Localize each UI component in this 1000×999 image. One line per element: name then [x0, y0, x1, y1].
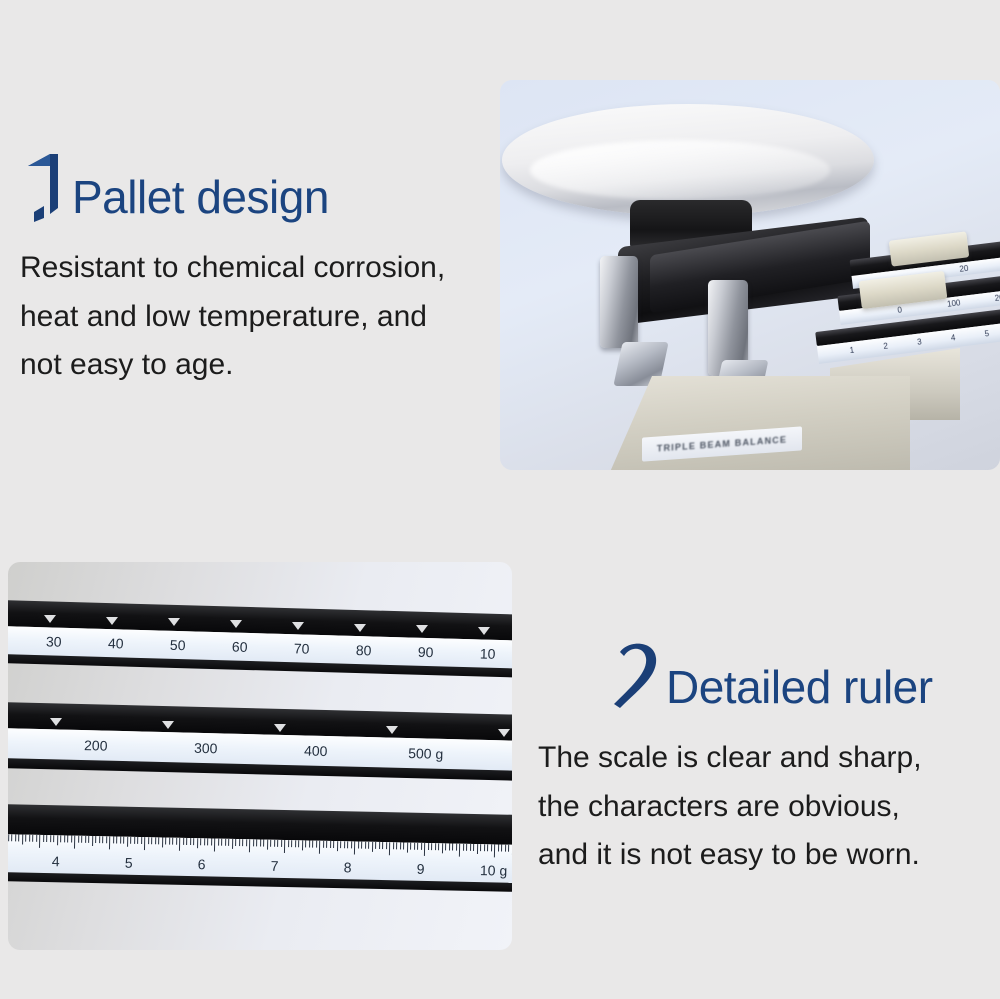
ruler-tick-label: 4 — [52, 853, 60, 869]
beam-top-label: 20 — [959, 264, 969, 274]
ruler-tick-label: 200 — [84, 737, 108, 754]
ruler-tick-label: 90 — [418, 644, 434, 660]
feature-1-body-line: Resistant to chemical corrosion, — [20, 244, 490, 293]
balance-scene: TRIPLE BEAM BALANCE 20 30 0 100 200 — [500, 80, 1000, 470]
ruler-tick-label: 60 — [232, 639, 248, 655]
ruler-notch — [168, 618, 180, 626]
ruler-notch — [44, 615, 56, 623]
beam-middle-label: 200 — [994, 292, 1000, 303]
feature-1-title: Pallet design — [72, 174, 329, 220]
ruler-tick-label: 6 — [198, 856, 206, 872]
ruler-tick-label: 80 — [356, 642, 372, 658]
ruler-notch — [274, 724, 286, 732]
ruler-notch — [416, 625, 428, 633]
beam-middle-label: 100 — [947, 298, 961, 309]
ruler-tick-label: 10 — [480, 645, 496, 661]
feature-2-body-line: and it is not easy to be worn. — [538, 831, 1000, 880]
pan-highlight — [530, 140, 830, 200]
beam-front-label: 4 — [950, 333, 956, 342]
feature-block-2: Detailed ruler The scale is clear and sh… — [538, 640, 1000, 880]
product-feature-page: Pallet design Resistant to chemical corr… — [0, 0, 1000, 999]
ruler-notch — [162, 721, 174, 729]
feature-number-2-icon — [610, 642, 666, 714]
ruler-scene: 3040506070809010 200300400500 g 45678910… — [8, 562, 512, 950]
ruler-tick-label: 300 — [194, 740, 218, 757]
balance-scale-photo: TRIPLE BEAM BALANCE 20 30 0 100 200 — [500, 80, 1000, 470]
ruler-notch — [50, 718, 62, 726]
ruler-notch — [478, 627, 490, 635]
feature-2-body-line: the characters are obvious, — [538, 783, 1000, 832]
feature-1-heading: Pallet design — [20, 150, 490, 222]
ruler-tick-label: 5 — [125, 855, 133, 871]
ruler-tick-label: 10 g — [480, 862, 508, 879]
ruler-tick-label: 400 — [304, 742, 328, 759]
beam-middle-label: 0 — [897, 305, 903, 314]
beam-front-label: 5 — [984, 329, 990, 338]
feature-1-body-line: heat and low temperature, and — [20, 293, 490, 342]
knife-edge-block-left — [600, 256, 638, 348]
ruler-notch — [354, 624, 366, 632]
ruler-scale-top: 3040506070809010 — [8, 600, 512, 681]
ruler-scale-middle: 200300400500 g — [8, 702, 512, 785]
beam-front-label: 3 — [917, 337, 923, 346]
ruler-notch — [230, 620, 242, 628]
feature-2-title: Detailed ruler — [666, 664, 933, 710]
ruler-notch — [498, 729, 510, 737]
ruler-tick-label: 40 — [108, 635, 124, 651]
feature-block-1: Pallet design Resistant to chemical corr… — [20, 150, 490, 390]
ruler-notch — [106, 617, 118, 625]
feature-1-body-line: not easy to age. — [20, 341, 490, 390]
ruler-tick-label: 7 — [271, 858, 279, 874]
ruler-tick-label: 500 g — [408, 745, 443, 762]
ruler-notch — [292, 622, 304, 630]
feature-2-heading: Detailed ruler — [538, 640, 1000, 712]
ruler-tick-label: 70 — [294, 640, 310, 656]
ruler-tick-label: 8 — [344, 859, 352, 875]
beam-front-label: 1 — [849, 346, 855, 355]
beam-front-label: 2 — [883, 341, 889, 350]
ruler-tick-label: 50 — [170, 637, 186, 653]
ruler-macro-photo: 3040506070809010 200300400500 g 45678910… — [8, 562, 512, 950]
feature-2-body-line: The scale is clear and sharp, — [538, 734, 1000, 783]
feature-1-body: Resistant to chemical corrosion, heat an… — [20, 244, 490, 390]
ruler-tick-label: 30 — [46, 633, 62, 649]
feature-2-body: The scale is clear and sharp, the charac… — [538, 734, 1000, 880]
feature-number-1-icon — [20, 152, 72, 224]
ruler-tick-label: 9 — [417, 861, 425, 877]
ruler-scale-front: 45678910 g — [8, 804, 512, 901]
ruler-notch — [386, 726, 398, 734]
